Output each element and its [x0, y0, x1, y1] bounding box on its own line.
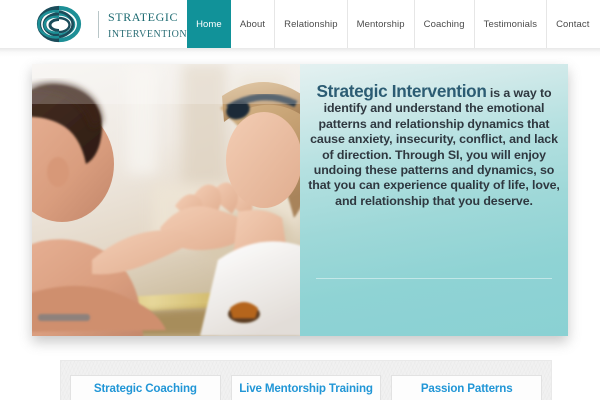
logo-line-one: Strategic	[108, 7, 187, 25]
hero-body: is a way to identify and understand the …	[308, 86, 560, 208]
nav-item-contact[interactable]: Contact	[546, 0, 598, 48]
hero-section: Strategic Intervention is a way to ident…	[32, 64, 568, 336]
card-passion-patterns[interactable]: Passion Patterns	[391, 375, 542, 400]
hero-divider	[316, 278, 552, 279]
card-title: Passion Patterns	[421, 382, 513, 395]
logo-wordmark: Strategic Intervention	[108, 7, 187, 41]
nav-item-relationship[interactable]: Relationship	[274, 0, 346, 48]
header-shadow	[0, 48, 600, 57]
spiral-swoosh-logo-icon	[28, 4, 90, 44]
hero-headline: Strategic Intervention	[316, 81, 486, 101]
nav-item-testimonials[interactable]: Testimonials	[474, 0, 546, 48]
nav-item-about[interactable]: About	[231, 0, 274, 48]
nav-item-coaching[interactable]: Coaching	[414, 0, 474, 48]
site-logo[interactable]: Strategic Intervention	[28, 0, 187, 48]
hero-photo	[32, 64, 300, 336]
content-panel: Strategic Coaching Live Mentorship Train…	[60, 360, 552, 400]
card-strategic-coaching[interactable]: Strategic Coaching	[70, 375, 221, 400]
card-title: Strategic Coaching	[94, 382, 197, 395]
nav-item-home[interactable]: Home	[187, 0, 231, 48]
main-navigation: Home About Relationship Mentorship Coach…	[187, 0, 600, 48]
logo-divider	[98, 11, 99, 38]
nav-item-mentorship[interactable]: Mentorship	[347, 0, 414, 48]
card-title: Live Mentorship Training	[239, 382, 373, 395]
site-header: Strategic Intervention Home About Relati…	[0, 0, 600, 48]
hero-text-panel: Strategic Intervention is a way to ident…	[300, 64, 568, 336]
logo-line-two: Intervention	[108, 26, 187, 41]
hero-copy: Strategic Intervention is a way to ident…	[308, 84, 560, 209]
card-live-mentorship-training[interactable]: Live Mentorship Training	[231, 375, 382, 400]
